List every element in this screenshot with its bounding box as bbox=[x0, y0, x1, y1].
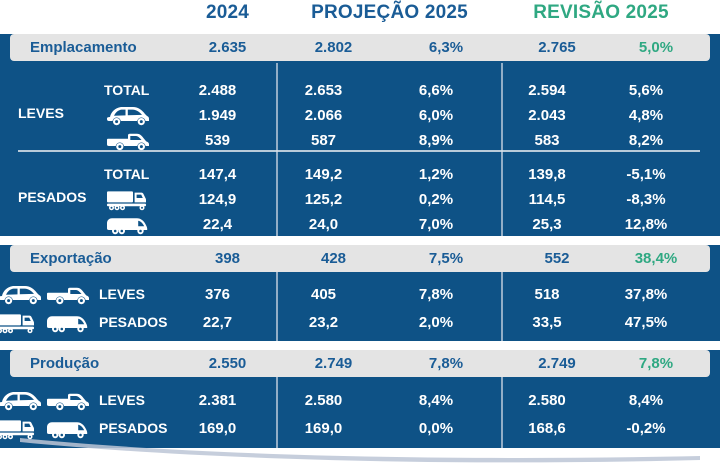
cell-exportacao-pesados-rev: 33,5 bbox=[492, 314, 602, 331]
decorative-swoosh bbox=[0, 434, 720, 464]
cell-pesados-truck-rev-pct: -8,3% bbox=[602, 191, 690, 208]
band-emplacamento: Emplacamento 2.635 2.802 6,3% 2.765 5,0% bbox=[10, 34, 710, 61]
cell-leves-car-proj-pct: 6,0% bbox=[380, 107, 492, 124]
cell-exportacao-leves-proj-pct: 7,8% bbox=[380, 286, 492, 303]
band-producao-rev-pct: 7,8% bbox=[612, 355, 700, 372]
cell-leves-pickup-rev: 583 bbox=[492, 132, 602, 149]
row-label-pesados-total: TOTAL bbox=[104, 166, 149, 182]
band-producao-rev: 2.749 bbox=[502, 355, 612, 372]
cell-pesados-truck-2024: 124,9 bbox=[168, 191, 267, 208]
cell-producao-leves-2024: 2.381 bbox=[168, 392, 267, 409]
column-divider-5 bbox=[276, 377, 278, 448]
bus-icon bbox=[104, 213, 154, 237]
band-emplacamento-2024: 2.635 bbox=[178, 39, 277, 56]
cell-producao-leves-proj-pct: 8,4% bbox=[380, 392, 492, 409]
table-header: 2024 PROJEÇÃO 2025 REVISÃO 2025 bbox=[0, 0, 720, 30]
cell-producao-leves-proj: 2.580 bbox=[267, 392, 380, 409]
cell-leves-total-2024: 2.488 bbox=[168, 82, 267, 99]
cell-pesados-bus-2024: 22,4 bbox=[168, 216, 267, 233]
forecast-table: 2024 PROJEÇÃO 2025 REVISÃO 2025 Emplacam… bbox=[0, 0, 720, 464]
cell-leves-total-rev-pct: 5,6% bbox=[602, 82, 690, 99]
band-producao-2024: 2.550 bbox=[178, 355, 277, 372]
cell-leves-total-rev: 2.594 bbox=[492, 82, 602, 99]
band-label-exportacao: Exportação bbox=[30, 250, 112, 267]
cell-pesados-total-rev-pct: -5,1% bbox=[602, 166, 690, 183]
truck-bus-pair-icon bbox=[0, 310, 96, 336]
row-label-leves-total: TOTAL bbox=[104, 82, 149, 98]
cell-pesados-truck-proj: 125,2 bbox=[267, 191, 380, 208]
car-pickup-pair-icon bbox=[0, 282, 92, 308]
column-header-projecao-2025: PROJEÇÃO 2025 bbox=[277, 2, 502, 24]
band-producao: Produção 2.550 2.749 7,8% 2.749 7,8% bbox=[10, 350, 710, 377]
cell-exportacao-pesados-2024: 22,7 bbox=[168, 314, 267, 331]
band-exportacao-2024: 398 bbox=[178, 250, 277, 267]
band-label-producao: Produção bbox=[30, 355, 99, 372]
cell-pesados-bus-proj-pct: 7,0% bbox=[380, 216, 492, 233]
band-label-emplacamento: Emplacamento bbox=[30, 39, 137, 56]
cell-pesados-total-rev: 139,8 bbox=[492, 166, 602, 183]
car-pickup-pair-icon bbox=[0, 388, 92, 414]
cell-exportacao-leves-2024: 376 bbox=[168, 286, 267, 303]
cell-pesados-total-proj-pct: 1,2% bbox=[380, 166, 492, 183]
column-divider-6 bbox=[501, 377, 503, 448]
cell-pesados-total-proj: 149,2 bbox=[267, 166, 380, 183]
table-row: PESADOS 22,7 23,2 2,0% 33,5 47,5% bbox=[0, 308, 720, 337]
car-icon bbox=[104, 104, 150, 128]
cell-exportacao-leves-proj: 405 bbox=[267, 286, 380, 303]
band-exportacao: Exportação 398 428 7,5% 552 38,4% bbox=[10, 245, 710, 272]
cell-leves-pickup-2024: 539 bbox=[168, 132, 267, 149]
band-emplacamento-proj: 2.802 bbox=[277, 39, 390, 56]
row-label-producao-leves: LEVES bbox=[99, 392, 145, 408]
cell-producao-leves-rev: 2.580 bbox=[492, 392, 602, 409]
column-divider-3 bbox=[276, 272, 278, 341]
band-exportacao-rev: 552 bbox=[502, 250, 612, 267]
band-emplacamento-rev: 2.765 bbox=[502, 39, 612, 56]
cell-pesados-bus-rev: 25,3 bbox=[492, 216, 602, 233]
band-emplacamento-proj-pct: 6,3% bbox=[390, 39, 502, 56]
cell-exportacao-pesados-proj: 23,2 bbox=[267, 314, 380, 331]
cell-exportacao-leves-rev: 518 bbox=[492, 286, 602, 303]
group-divider-leves-pesados bbox=[18, 150, 700, 152]
cell-producao-leves-rev-pct: 8,4% bbox=[602, 392, 690, 409]
cell-leves-car-rev: 2.043 bbox=[492, 107, 602, 124]
band-emplacamento-rev-pct: 5,0% bbox=[612, 39, 700, 56]
cell-pesados-truck-proj-pct: 0,2% bbox=[380, 191, 492, 208]
row-label-exportacao-pesados: PESADOS bbox=[99, 314, 167, 330]
cell-exportacao-pesados-proj-pct: 2,0% bbox=[380, 314, 492, 331]
cell-pesados-truck-rev: 114,5 bbox=[492, 191, 602, 208]
cell-exportacao-leves-rev-pct: 37,8% bbox=[602, 286, 690, 303]
cell-leves-total-proj: 2.653 bbox=[267, 82, 380, 99]
cell-leves-pickup-proj-pct: 8,9% bbox=[380, 132, 492, 149]
truck-icon bbox=[104, 188, 154, 212]
cell-leves-pickup-proj: 587 bbox=[267, 132, 380, 149]
band-exportacao-rev-pct: 38,4% bbox=[612, 250, 700, 267]
cell-leves-total-proj-pct: 6,6% bbox=[380, 82, 492, 99]
cell-leves-car-rev-pct: 4,8% bbox=[602, 107, 690, 124]
row-label-exportacao-leves: LEVES bbox=[99, 286, 145, 302]
cell-pesados-bus-rev-pct: 12,8% bbox=[602, 216, 690, 233]
column-header-revisao-2025: REVISÃO 2025 bbox=[502, 2, 700, 24]
column-header-2024: 2024 bbox=[178, 2, 277, 24]
column-divider-4 bbox=[501, 272, 503, 341]
band-exportacao-proj: 428 bbox=[277, 250, 390, 267]
cell-exportacao-pesados-rev-pct: 47,5% bbox=[602, 314, 690, 331]
cell-leves-pickup-rev-pct: 8,2% bbox=[602, 132, 690, 149]
cell-pesados-bus-proj: 24,0 bbox=[267, 216, 380, 233]
table-row: LEVES 376 405 7,8% 518 37,8% bbox=[0, 280, 720, 309]
table-row: 22,4 24,0 7,0% 25,3 12,8% bbox=[0, 210, 720, 239]
band-producao-proj: 2.749 bbox=[277, 355, 390, 372]
band-exportacao-proj-pct: 7,5% bbox=[390, 250, 502, 267]
cell-leves-car-proj: 2.066 bbox=[267, 107, 380, 124]
table-row: LEVES 2.381 2.580 8,4% 2.580 8,4% bbox=[0, 386, 720, 415]
cell-leves-car-2024: 1.949 bbox=[168, 107, 267, 124]
band-producao-proj-pct: 7,8% bbox=[390, 355, 502, 372]
cell-pesados-total-2024: 147,4 bbox=[168, 166, 267, 183]
